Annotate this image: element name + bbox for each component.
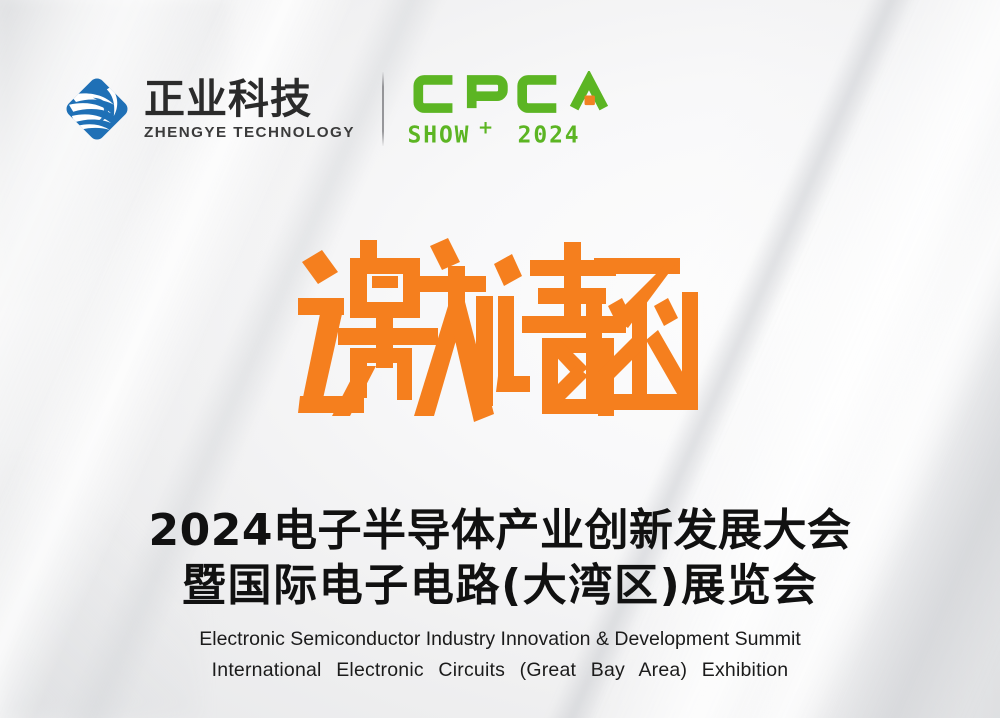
- svg-text:2024: 2024: [518, 122, 581, 147]
- title-block: 2024电子半导体产业创新发展大会 暨国际电子电路(大湾区)展览会 Electr…: [0, 503, 1000, 687]
- cpca-event-logo: SHOW + 2024: [406, 71, 635, 148]
- invitation-poster: 正业科技 ZHENGYE TECHNOLOGY: [0, 0, 1000, 718]
- zhengye-diamond-swirl-logo-icon: [62, 74, 132, 144]
- title-en-line-2: International Electronic Circuits (Great…: [0, 655, 1000, 687]
- cpca-a-accent-dot-icon: [585, 95, 595, 105]
- cpca-wordmark-icon: [406, 71, 635, 117]
- title-cn-line-2: 暨国际电子电路(大湾区)展览会: [0, 558, 1000, 613]
- svg-text:+: +: [478, 122, 493, 138]
- invitation-title-artwork: [298, 236, 702, 432]
- title-cn-line-1: 2024电子半导体产业创新发展大会: [0, 503, 1000, 558]
- logo-lockup: 正业科技 ZHENGYE TECHNOLOGY: [62, 66, 635, 152]
- svg-text:SHOW: SHOW: [408, 122, 471, 147]
- title-en-line-1: Electronic Semiconductor Industry Innova…: [0, 624, 1000, 656]
- invitation-hero: [0, 236, 1000, 432]
- zhengye-name-cn: 正业科技: [144, 77, 356, 121]
- svg-text:正业科技: 正业科技: [144, 77, 312, 121]
- title-en-wrapper: Electronic Semiconductor Industry Innova…: [0, 624, 1000, 687]
- vertical-divider-icon: [382, 72, 384, 146]
- zhengye-wordmark: 正业科技 ZHENGYE TECHNOLOGY: [144, 77, 356, 140]
- cpca-showplus-year: SHOW + 2024: [406, 122, 635, 148]
- zhengye-name-en: ZHENGYE TECHNOLOGY: [144, 125, 356, 140]
